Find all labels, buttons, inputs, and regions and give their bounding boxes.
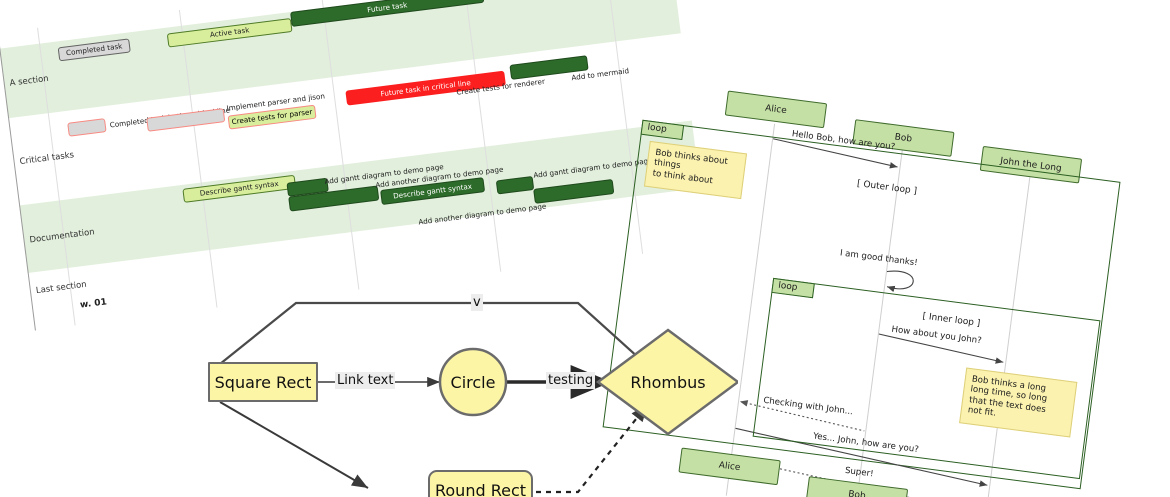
flow-node-round-rect[interactable]: Round Rect <box>428 470 533 497</box>
flow-node-square-rect[interactable]: Square Rect <box>208 362 318 402</box>
flow-edge-label-v: v <box>471 294 483 311</box>
gantt-task-label: Future task <box>367 1 408 13</box>
flow-node-rhombus-label[interactable]: Rhombus <box>610 372 726 392</box>
flow-edge-label-link-text: Link text <box>335 372 395 389</box>
flow-node-circle-label[interactable]: Circle <box>440 372 506 392</box>
flowchart-panel: Square Rect Circle Rhombus Round Rect v … <box>178 286 738 497</box>
diagram-collage: Adding GANTT diagram functionality to me… <box>0 0 1170 497</box>
flow-edge-label-testing: testing <box>546 372 595 389</box>
gantt-section-label: Last section <box>35 280 87 296</box>
gantt-task-label: Create tests for parser <box>231 108 312 125</box>
gantt-section-label: Critical tasks <box>19 150 75 167</box>
gantt-task-bar[interactable] <box>67 118 106 137</box>
gantt-task-label: Active task <box>210 27 250 39</box>
gantt-axis-tick-label: w. 01 <box>80 297 108 310</box>
